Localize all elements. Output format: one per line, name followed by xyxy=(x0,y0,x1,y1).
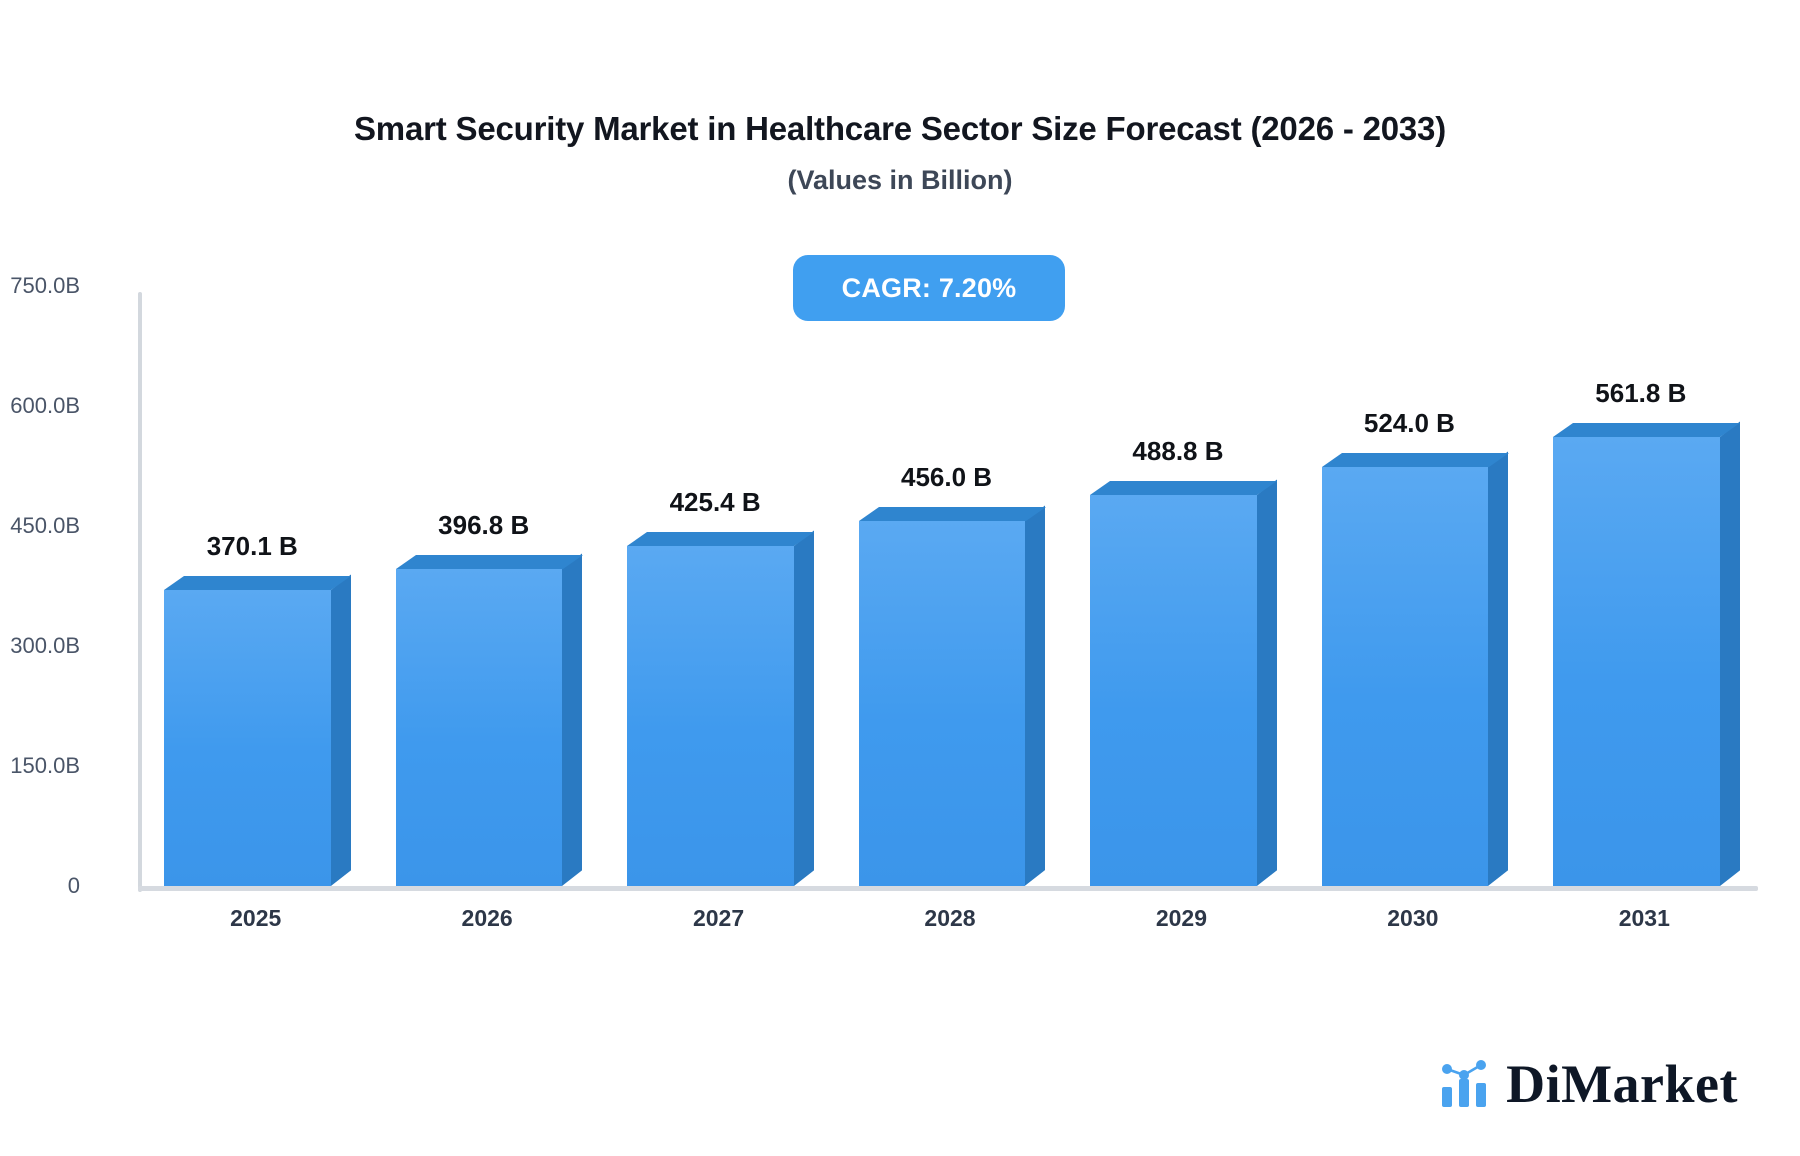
bar[interactable] xyxy=(1090,495,1257,886)
x-axis-tick-label: 2028 xyxy=(924,905,975,932)
x-axis-tick-label: 2031 xyxy=(1619,905,1670,932)
y-axis-tick-label: 300.0B xyxy=(0,633,80,659)
bar-top-face xyxy=(1322,453,1509,467)
bar[interactable] xyxy=(1322,467,1489,886)
bar[interactable] xyxy=(627,546,794,886)
bar-front-face xyxy=(1553,437,1720,886)
bar-side-face xyxy=(794,530,814,886)
bar-top-face xyxy=(1553,423,1740,437)
y-axis-tick-label: 450.0B xyxy=(0,513,80,539)
chart-subtitle: (Values in Billion) xyxy=(0,165,1800,196)
bar-side-face xyxy=(1257,479,1277,886)
bar-side-face xyxy=(1488,451,1508,886)
bar-column[interactable]: 524.0 B xyxy=(1322,286,1489,886)
page-title: Smart Security Market in Healthcare Sect… xyxy=(0,108,1800,149)
y-axis-tick-label: 750.0B xyxy=(0,273,80,299)
bar[interactable] xyxy=(859,521,1026,886)
x-axis-ticks: 2025202620272028202920302031 xyxy=(138,905,1758,945)
bar-value-label: 396.8 B xyxy=(438,510,529,541)
bar[interactable] xyxy=(164,590,331,886)
plot-area: 0150.0B300.0B450.0B600.0B750.0B 370.1 B3… xyxy=(138,280,1758,892)
x-axis-tick-label: 2026 xyxy=(462,905,513,932)
bar-side-face xyxy=(331,574,351,886)
x-axis-tick-label: 2025 xyxy=(230,905,281,932)
bar-value-label: 524.0 B xyxy=(1364,408,1455,439)
bar[interactable] xyxy=(1553,437,1720,886)
bar-column[interactable]: 488.8 B xyxy=(1090,286,1257,886)
y-axis-tick-label: 0 xyxy=(0,873,80,899)
title-block: Smart Security Market in Healthcare Sect… xyxy=(0,108,1800,196)
x-axis-tick-label: 2027 xyxy=(693,905,744,932)
bar-value-label: 561.8 B xyxy=(1595,378,1686,409)
bar-column[interactable]: 456.0 B xyxy=(859,286,1026,886)
bar-value-label: 425.4 B xyxy=(670,487,761,518)
bar-top-face xyxy=(396,555,583,569)
bar-column[interactable]: 561.8 B xyxy=(1553,286,1720,886)
bar-series: 370.1 B396.8 B425.4 B456.0 B488.8 B524.0… xyxy=(138,280,1758,892)
bar-chart-icon xyxy=(1440,1059,1492,1109)
bar-side-face xyxy=(562,553,582,886)
bar-side-face xyxy=(1025,506,1045,886)
bar[interactable] xyxy=(396,569,563,886)
bar-top-face xyxy=(1090,481,1277,495)
y-axis-tick-label: 150.0B xyxy=(0,753,80,779)
bar-top-face xyxy=(164,576,351,590)
y-axis-tick-label: 600.0B xyxy=(0,393,80,419)
logo-text: DiMarket xyxy=(1506,1057,1738,1111)
bar-value-label: 370.1 B xyxy=(207,531,298,562)
bar-front-face xyxy=(396,569,563,886)
bar-front-face xyxy=(627,546,794,886)
bar-value-label: 456.0 B xyxy=(901,462,992,493)
bar-front-face xyxy=(859,521,1026,886)
chart-card: Smart Security Market in Healthcare Sect… xyxy=(0,0,1800,1156)
dimarket-logo: DiMarket xyxy=(1440,1057,1738,1111)
bar-column[interactable]: 370.1 B xyxy=(164,286,331,886)
bar-side-face xyxy=(1720,421,1740,886)
bar-value-label: 488.8 B xyxy=(1132,436,1223,467)
bar-column[interactable]: 396.8 B xyxy=(396,286,563,886)
x-axis-tick-label: 2030 xyxy=(1387,905,1438,932)
bar-front-face xyxy=(1090,495,1257,886)
bar-front-face xyxy=(164,590,331,886)
x-axis-tick-label: 2029 xyxy=(1156,905,1207,932)
bar-front-face xyxy=(1322,467,1489,886)
bar-top-face xyxy=(627,532,814,546)
bar-column[interactable]: 425.4 B xyxy=(627,286,794,886)
bar-top-face xyxy=(859,507,1046,521)
